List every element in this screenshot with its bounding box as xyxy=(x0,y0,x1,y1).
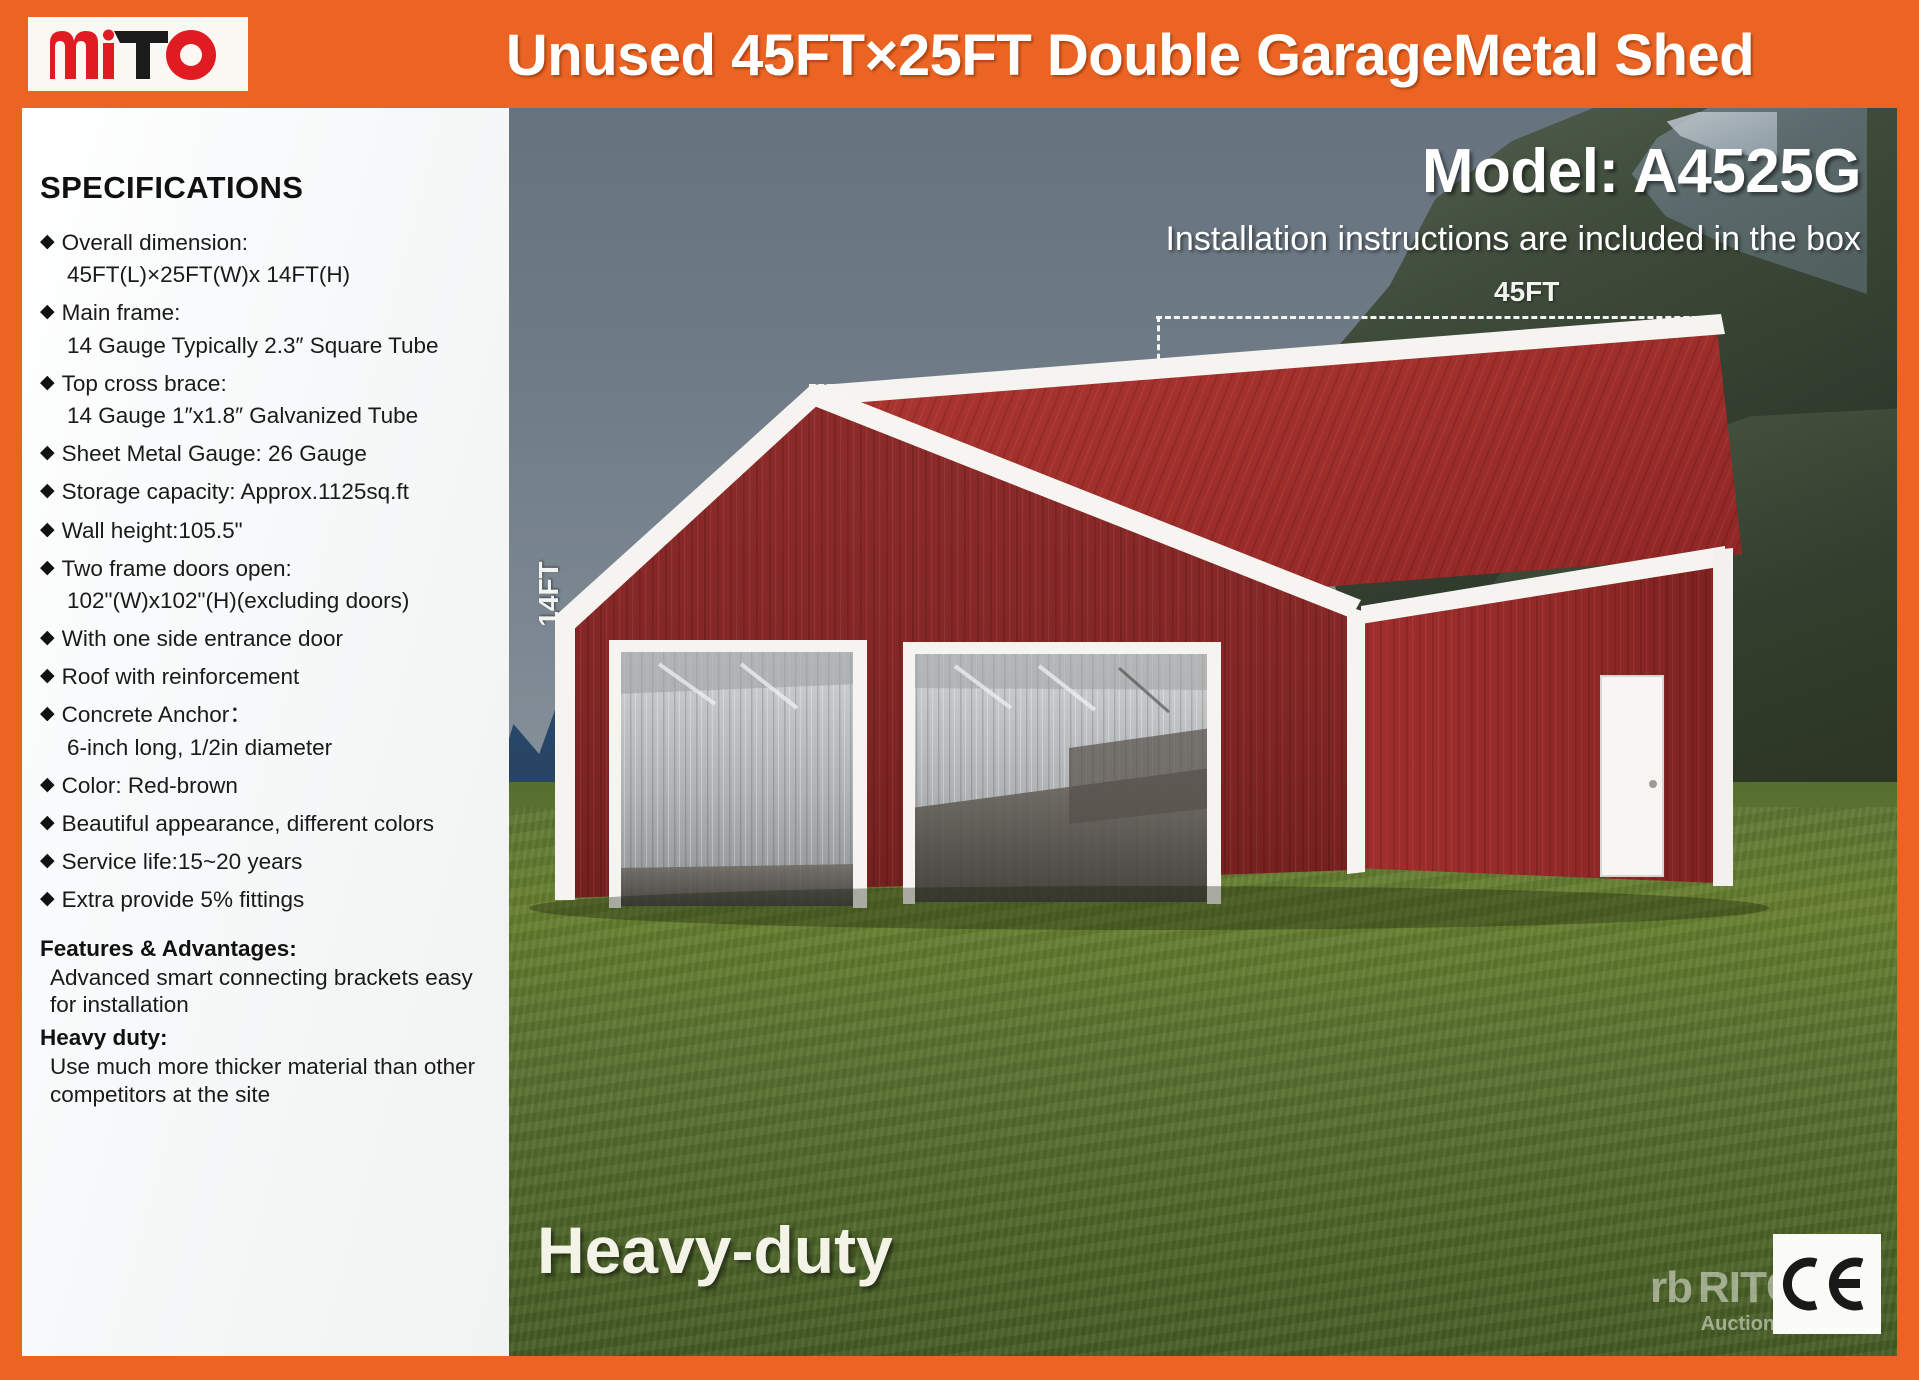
side-entrance-door xyxy=(1601,676,1663,876)
page-title: Unused 45FT×25FT Double Garage Metal She… xyxy=(380,12,1880,98)
spec-item: ◆ Concrete Anchor： xyxy=(40,702,497,727)
spec-item: ◆ With one side entrance door xyxy=(40,626,497,651)
spec-item: ◆ Overall dimension: xyxy=(40,230,497,255)
spec-item: ◆ Sheet Metal Gauge: 26 Gauge xyxy=(40,441,497,466)
garage-bay-left xyxy=(609,640,867,908)
diamond-bullet-icon: ◆ xyxy=(40,371,55,395)
shed-ground-shadow xyxy=(529,886,1769,930)
spec-item-label: Roof with reinforcement xyxy=(62,664,300,689)
features-advantages-block: Features & Advantages: Advanced smart co… xyxy=(40,935,497,1109)
spec-item-label: Beautiful appearance, different colors xyxy=(62,811,434,836)
spec-item-sub: 14 Gauge 1″x1.8″ Galvanized Tube xyxy=(67,403,497,428)
body-area: SPECIFICATIONS ◆ Overall dimension: 45FT… xyxy=(22,108,1897,1356)
specifications-heading: SPECIFICATIONS xyxy=(40,170,497,206)
rb-monogram-icon: rb xyxy=(1650,1266,1692,1310)
model-label: Model: A4525G xyxy=(1422,136,1861,207)
spec-item-label: Service life:15~20 years xyxy=(62,849,303,874)
diamond-bullet-icon: ◆ xyxy=(40,230,55,254)
features-heading: Features & Advantages: xyxy=(40,935,497,962)
spec-item-label: Concrete Anchor： xyxy=(62,702,252,727)
product-photo-scene: 45FT 14FT 25FT xyxy=(509,108,1897,1356)
installation-note: Installation instructions are included i… xyxy=(1165,220,1861,259)
heavy-duty-body: Use much more thicker material than othe… xyxy=(50,1053,497,1108)
diamond-bullet-icon: ◆ xyxy=(40,702,55,726)
features-body: Advanced smart connecting brackets easy … xyxy=(50,964,497,1019)
mito-logo-icon xyxy=(48,25,228,83)
spec-item-label: Color: Red-brown xyxy=(62,773,238,798)
diamond-bullet-icon: ◆ xyxy=(40,849,55,873)
diamond-bullet-icon: ◆ xyxy=(40,887,55,911)
spec-item: ◆ Beautiful appearance, different colors xyxy=(40,811,497,836)
header-band: Unused 45FT×25FT Double Garage Metal She… xyxy=(0,0,1919,108)
ce-mark-icon xyxy=(1782,1253,1872,1315)
poster-root: Unused 45FT×25FT Double Garage Metal She… xyxy=(0,0,1919,1380)
spec-item: ◆ Roof with reinforcement xyxy=(40,664,497,689)
ce-mark-badge xyxy=(1773,1234,1881,1334)
spec-item-label: Two frame doors open: xyxy=(62,556,292,581)
spec-item: ◆ Two frame doors open: xyxy=(40,556,497,581)
spec-item-sub: 14 Gauge Typically 2.3″ Square Tube xyxy=(67,333,497,358)
spec-item-label: Top cross brace: xyxy=(62,371,227,396)
spec-item-label: Wall height:105.5" xyxy=(62,518,243,543)
spec-item: ◆ Storage capacity: Approx.1125sq.ft xyxy=(40,479,497,504)
metal-shed-illustration xyxy=(509,108,1897,1356)
spec-item-label: Extra provide 5% fittings xyxy=(62,887,305,912)
diamond-bullet-icon: ◆ xyxy=(40,626,55,650)
diamond-bullet-icon: ◆ xyxy=(40,773,55,797)
diamond-bullet-icon: ◆ xyxy=(40,479,55,503)
heavy-duty-heading: Heavy duty: xyxy=(40,1024,497,1051)
spec-item-sub: 6-inch long, 1/2in diameter xyxy=(67,735,497,760)
spec-item: ◆ Service life:15~20 years xyxy=(40,849,497,874)
spec-item: ◆ Extra provide 5% fittings xyxy=(40,887,497,912)
garage-bay-right xyxy=(903,642,1221,904)
spec-item-label: Storage capacity: Approx.1125sq.ft xyxy=(62,479,409,504)
door-handle-icon xyxy=(1649,780,1657,788)
spec-item-label: With one side entrance door xyxy=(62,626,343,651)
spec-item: ◆ Main frame: xyxy=(40,300,497,325)
diamond-bullet-icon: ◆ xyxy=(40,300,55,324)
specifications-panel: SPECIFICATIONS ◆ Overall dimension: 45FT… xyxy=(22,108,509,1356)
diamond-bullet-icon: ◆ xyxy=(40,441,55,465)
spec-item-sub: 102"(W)x102"(H)(excluding doors) xyxy=(67,588,497,613)
diamond-bullet-icon: ◆ xyxy=(40,556,55,580)
diamond-bullet-icon: ◆ xyxy=(40,811,55,835)
spec-item-label: Main frame: xyxy=(62,300,181,325)
page-title-tail: Metal Shed xyxy=(1453,22,1754,89)
mito-logo xyxy=(28,17,248,91)
spec-item-label: Overall dimension: xyxy=(62,230,248,255)
spec-item: ◆ Color: Red-brown xyxy=(40,773,497,798)
heavy-duty-label: Heavy-duty xyxy=(537,1212,893,1288)
spec-item: ◆ Wall height:105.5" xyxy=(40,518,497,543)
spec-item-sub: 45FT(L)×25FT(W)x 14FT(H) xyxy=(67,262,497,287)
page-title-main: Unused 45FT×25FT Double Garage xyxy=(506,22,1453,89)
diamond-bullet-icon: ◆ xyxy=(40,664,55,688)
spec-item: ◆ Top cross brace: xyxy=(40,371,497,396)
diamond-bullet-icon: ◆ xyxy=(40,518,55,542)
spec-item-label: Sheet Metal Gauge: 26 Gauge xyxy=(62,441,367,466)
